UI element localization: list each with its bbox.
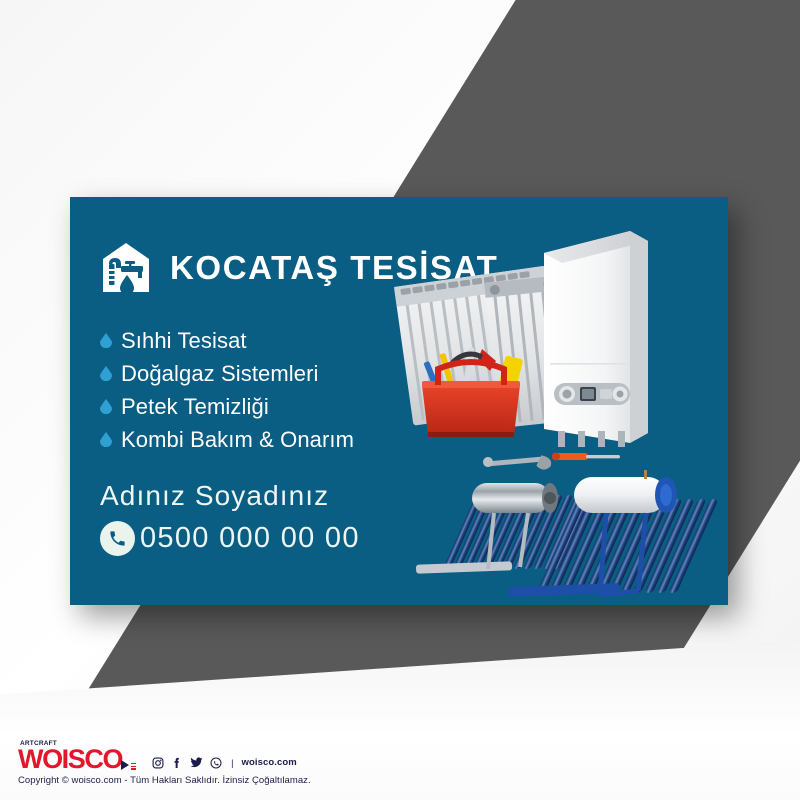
phone-number: 0500 000 00 00 bbox=[140, 522, 360, 555]
list-item: Kombi Bakım & Onarım bbox=[100, 424, 354, 455]
whatsapp-icon[interactable] bbox=[210, 757, 222, 769]
service-label: Sıhhi Tesisat bbox=[121, 328, 247, 354]
water-drop-bullet-icon bbox=[100, 333, 112, 348]
separator: | bbox=[231, 758, 233, 768]
service-label: Doğalgaz Sistemleri bbox=[121, 361, 319, 387]
woisco-logo[interactable]: ARTCRAFT WOISCO bbox=[18, 741, 122, 771]
list-item: Doğalgaz Sistemleri bbox=[100, 358, 354, 389]
water-drop-bullet-icon bbox=[100, 399, 112, 414]
list-item: Sıhhi Tesisat bbox=[100, 325, 354, 356]
facebook-icon[interactable] bbox=[171, 757, 183, 769]
service-label: Petek Temizliği bbox=[121, 394, 269, 420]
social-links: | woisco.com bbox=[152, 756, 297, 771]
card-inner: KOCATAŞ TESİSAT Sıhhi Tesisat bbox=[70, 197, 728, 605]
phone-icon bbox=[100, 521, 135, 556]
house-faucet-water-drop-icon bbox=[98, 239, 154, 295]
instagram-icon[interactable] bbox=[152, 757, 164, 769]
service-label: Kombi Bakım & Onarım bbox=[121, 427, 354, 453]
person-name: Adınız Soyadınız bbox=[100, 480, 360, 512]
website-link[interactable]: woisco.com bbox=[241, 757, 296, 768]
twitter-icon[interactable] bbox=[190, 756, 203, 769]
tag-bars-icon bbox=[131, 763, 136, 770]
plumbing-products-photo bbox=[388, 225, 728, 605]
copyright-text: Copyright © woisco.com - Tüm Hakları Sak… bbox=[18, 775, 778, 786]
list-item: Petek Temizliği bbox=[100, 391, 354, 422]
business-card-mockup: KOCATAŞ TESİSAT Sıhhi Tesisat bbox=[0, 0, 800, 800]
woisco-wordmark: WOISCO bbox=[18, 748, 122, 771]
business-card: KOCATAŞ TESİSAT Sıhhi Tesisat bbox=[70, 197, 728, 605]
water-drop-bullet-icon bbox=[100, 366, 112, 381]
footer-branding: ARTCRAFT WOISCO bbox=[18, 741, 778, 786]
phone-row[interactable]: 0500 000 00 00 bbox=[100, 521, 360, 556]
footer-top-row: ARTCRAFT WOISCO bbox=[18, 741, 778, 771]
water-drop-bullet-icon bbox=[100, 432, 112, 447]
contact-block: Adınız Soyadınız 0500 000 00 00 bbox=[100, 480, 360, 556]
play-tag-icon bbox=[121, 760, 136, 770]
services-list: Sıhhi Tesisat Doğalgaz Sistemleri bbox=[100, 325, 354, 455]
